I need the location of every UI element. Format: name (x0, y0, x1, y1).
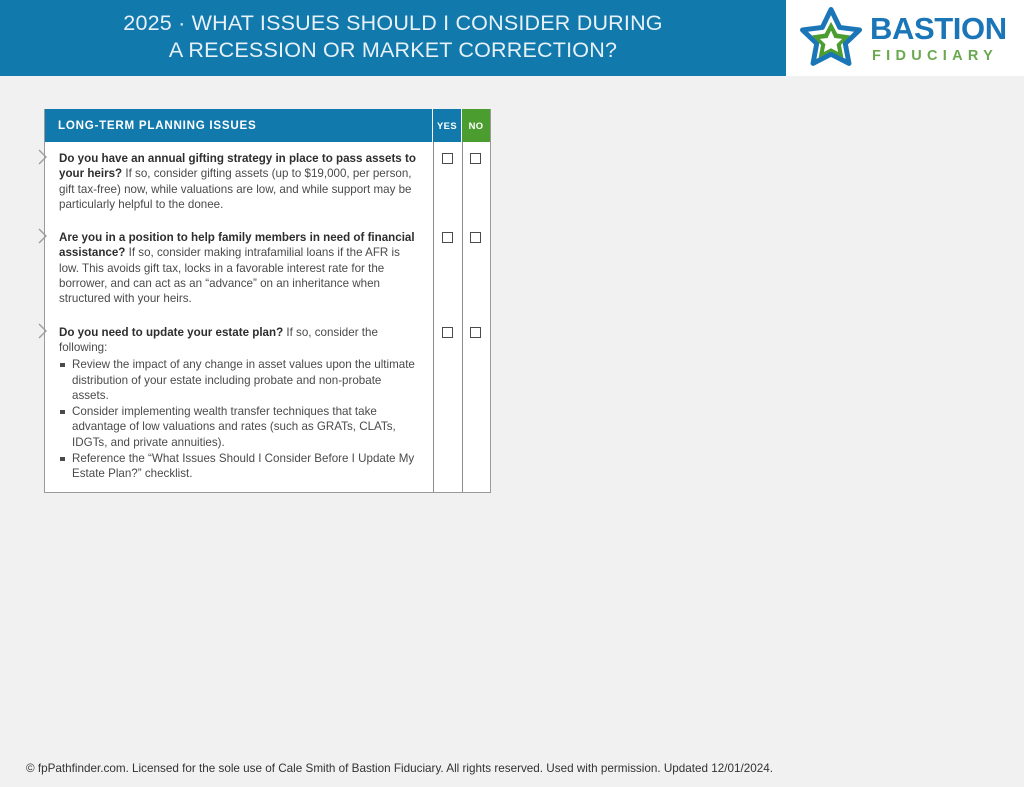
row-content: Are you in a position to help family mem… (45, 221, 433, 315)
yes-checkbox[interactable] (442, 327, 453, 338)
brand-wordmark: BASTION FIDUCIARY (870, 13, 1007, 64)
page-header: 2025 · WHAT ISSUES SHOULD I CONSIDER DUR… (0, 0, 1024, 76)
row-content: Do you have an annual gifting strategy i… (45, 142, 433, 221)
no-cell[interactable] (461, 221, 489, 315)
table-row: Are you in a position to help family mem… (45, 221, 490, 315)
checklist-sheet: LONG-TERM PLANNING ISSUES YES NO Do you … (44, 109, 491, 493)
page-title: 2025 · WHAT ISSUES SHOULD I CONSIDER DUR… (123, 10, 662, 66)
no-checkbox[interactable] (470, 153, 481, 164)
row-answer-cells (433, 221, 490, 315)
table-body: Do you have an annual gifting strategy i… (45, 142, 490, 492)
checklist-table: LONG-TERM PLANNING ISSUES YES NO Do you … (44, 109, 491, 493)
header-title-band: 2025 · WHAT ISSUES SHOULD I CONSIDER DUR… (0, 0, 786, 76)
brand-logo: BASTION FIDUCIARY (786, 0, 1024, 76)
no-cell[interactable] (461, 142, 489, 221)
no-checkbox[interactable] (470, 327, 481, 338)
row-bullet-list: Review the impact of any change in asset… (59, 357, 420, 481)
column-header-no: NO (461, 109, 490, 142)
table-header-row: LONG-TERM PLANNING ISSUES YES NO (45, 109, 490, 142)
no-checkbox[interactable] (470, 232, 481, 243)
yes-cell[interactable] (433, 142, 461, 221)
row-answer-cells (433, 316, 490, 492)
yes-checkbox[interactable] (442, 232, 453, 243)
page-title-line-1: 2025 · WHAT ISSUES SHOULD I CONSIDER DUR… (123, 10, 662, 37)
star-badge-icon (800, 7, 862, 69)
yes-cell[interactable] (433, 316, 461, 492)
list-item: Review the impact of any change in asset… (59, 357, 420, 403)
row-answer-cells (433, 142, 490, 221)
list-item: Reference the “What Issues Should I Cons… (59, 451, 420, 482)
yes-cell[interactable] (433, 221, 461, 315)
brand-name: BASTION (870, 13, 1007, 44)
table-row: Do you need to update your estate plan? … (45, 316, 490, 492)
brand-tagline: FIDUCIARY (872, 49, 1007, 64)
no-cell[interactable] (461, 316, 489, 492)
table-row: Do you have an annual gifting strategy i… (45, 142, 490, 221)
column-header-yes: YES (432, 109, 461, 142)
footer-copyright: © fpPathfinder.com. Licensed for the sol… (26, 762, 773, 775)
column-header-issues: LONG-TERM PLANNING ISSUES (45, 109, 432, 142)
page-title-line-2: A RECESSION OR MARKET CORRECTION? (123, 37, 662, 64)
list-item: Consider implementing wealth transfer te… (59, 404, 420, 450)
row-content: Do you need to update your estate plan? … (45, 316, 433, 492)
row-question: Do you need to update your estate plan? (59, 326, 283, 339)
yes-checkbox[interactable] (442, 153, 453, 164)
